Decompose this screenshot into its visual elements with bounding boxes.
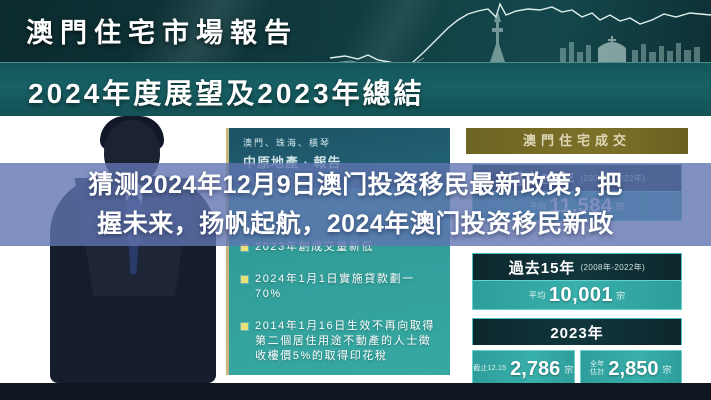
caption-line-1: 猜测2024年12月9日澳门投资移民最新政策，把 (88, 166, 622, 205)
footer-strip (0, 383, 711, 400)
caption-line-2: 握未来，扬帆起航，2024年澳门投资移民新政 (97, 205, 614, 244)
report-banner: 澳門住宅市場報告 (0, 0, 711, 62)
bullet-text: 2024年1月1日實施貸款劃一70% (255, 272, 438, 302)
stat-range: (2008年-2022年) (580, 262, 645, 273)
stat-title: 過去15年 (509, 257, 576, 278)
bullet-square-icon (241, 323, 248, 330)
stat-cell-value: 2,786 (510, 358, 560, 381)
presenter-figure (36, 116, 226, 383)
stat-block-15y: 過去15年 (2008年-2022年) 平均 10,001 宗 (472, 253, 682, 310)
bullet-text: 2014年1月16日生效不再向取得第二個居住用途不動產的人士徵收樓價5%的取得印… (255, 319, 438, 364)
stat-cell-label-line1: 全年 (590, 361, 604, 369)
stat-unit: 宗 (616, 289, 625, 302)
report-title: 澳門住宅市場報告 (26, 11, 298, 50)
list-item: 2014年1月16日生效不再向取得第二個居住用途不動產的人士徵收樓價5%的取得印… (241, 319, 438, 364)
bullet-list: 2023年創成交量新低 2024年1月1日實施貸款劃一70% 2014年1月16… (229, 240, 450, 381)
screenshot-root: 澳門住宅市場報告 (0, 0, 711, 400)
card-right-title: 澳門住宅成交 (466, 128, 688, 154)
card-right-header: 澳門住宅成交 (466, 128, 688, 154)
stat-cell-unit: 宗 (662, 363, 671, 376)
stat-avg-value: 10,001 (549, 284, 613, 307)
caption-overlay-text: 猜测2024年12月9日澳门投资移民最新政策，把 握未来，扬帆起航，2024年澳… (0, 163, 711, 246)
stat-title: 2023年 (550, 322, 603, 343)
stat-cell-label-line1: 截止12.15 (473, 365, 506, 373)
stat-cell-unit: 宗 (564, 363, 573, 376)
stat-cell-label: 全年 估計 (590, 361, 604, 377)
card-left-eyebrow: 澳門、珠海、橫琴 (243, 136, 331, 149)
stat-cell-label-line2: 估計 (590, 369, 604, 377)
stat-title-row: 2023年 (472, 318, 682, 345)
stat-title-row: 過去15年 (2008年-2022年) (472, 253, 682, 280)
bullet-square-icon (241, 276, 248, 283)
report-subtitle-band: 2024年度展望及2023年總結 (0, 62, 711, 116)
stat-cell-label: 截止12.15 (473, 365, 506, 373)
stat-block-2023: 2023年 截止12.15 2,786 宗 全年 估計 2,850 (472, 318, 682, 388)
stat-cell-value: 2,850 (608, 358, 658, 381)
stat-value-row: 平均 10,001 宗 (472, 280, 682, 310)
stat-avg-label: 平均 (529, 290, 546, 301)
list-item: 2024年1月1日實施貸款劃一70% (241, 272, 438, 302)
report-subtitle: 2024年度展望及2023年總結 (28, 72, 425, 112)
